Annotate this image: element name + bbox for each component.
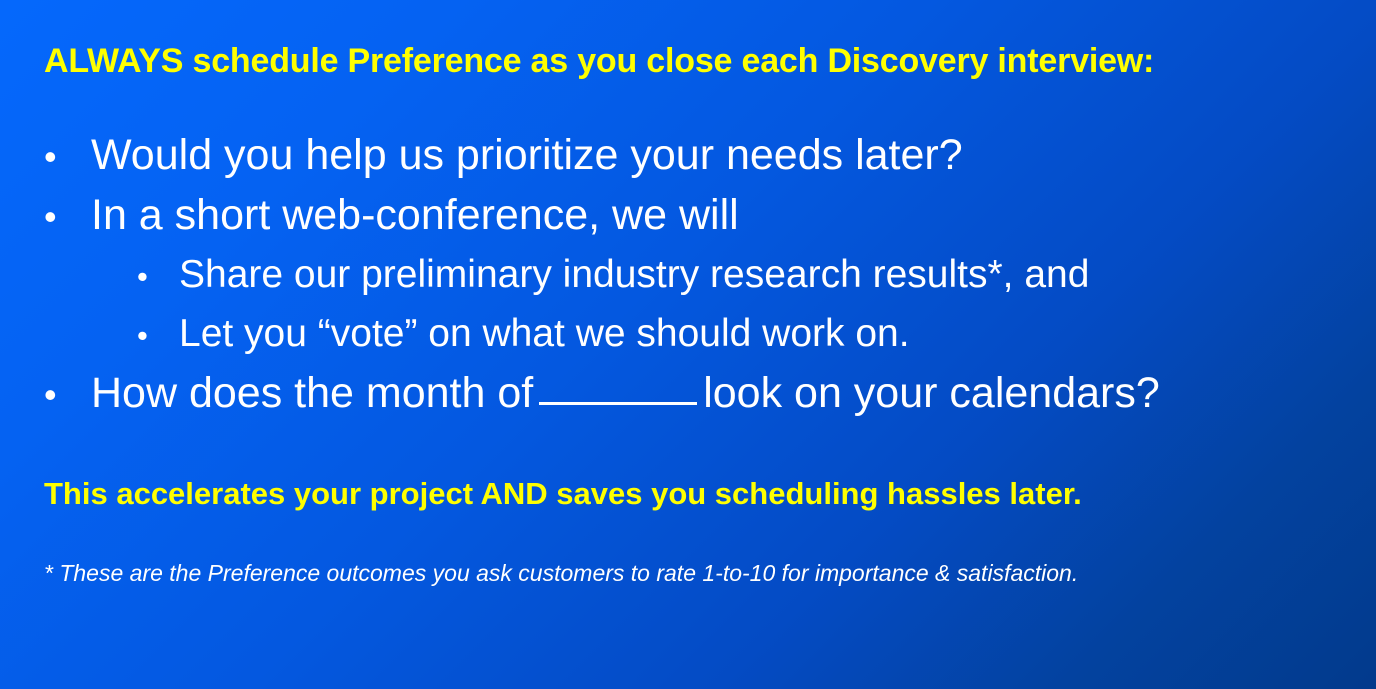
list-item: • Let you “vote” on what we should work … — [44, 305, 1336, 364]
calendar-text-after: look on your calendars? — [703, 369, 1160, 417]
list-item: • Would you help us prioritize your need… — [44, 126, 1336, 186]
footnote: * These are the Preference outcomes you … — [44, 558, 1336, 588]
list-item: • Share our preliminary industry researc… — [44, 246, 1336, 305]
bullet-point-icon: • — [44, 128, 91, 186]
bullet-point-icon: • — [44, 188, 91, 246]
list-item-label: In a short web-conference, we will — [91, 186, 739, 244]
calendar-text-before: How does the month of — [91, 369, 533, 417]
bullet-point-icon: • — [137, 307, 179, 364]
list-item: • In a short web-conference, we will — [44, 186, 1336, 246]
takeaway-statement: This accelerates your project AND saves … — [44, 475, 1336, 513]
bullet-point-icon: • — [137, 248, 179, 305]
slide-headline: ALWAYS schedule Preference as you close … — [44, 40, 1336, 82]
list-item-label: How does the month oflook on your calend… — [91, 364, 1160, 422]
list-item-label: Share our preliminary industry research … — [179, 246, 1089, 303]
bullet-point-icon: • — [44, 366, 91, 424]
list-item-label: Would you help us prioritize your needs … — [91, 126, 963, 184]
fill-in-blank — [539, 402, 697, 405]
list-item-label: Let you “vote” on what we should work on… — [179, 305, 910, 362]
presentation-slide: ALWAYS schedule Preference as you close … — [0, 0, 1376, 689]
bullet-list: • Would you help us prioritize your need… — [44, 126, 1336, 424]
slide-content: ALWAYS schedule Preference as you close … — [44, 40, 1336, 588]
list-item-calendar: • How does the month oflook on your cale… — [44, 364, 1336, 424]
